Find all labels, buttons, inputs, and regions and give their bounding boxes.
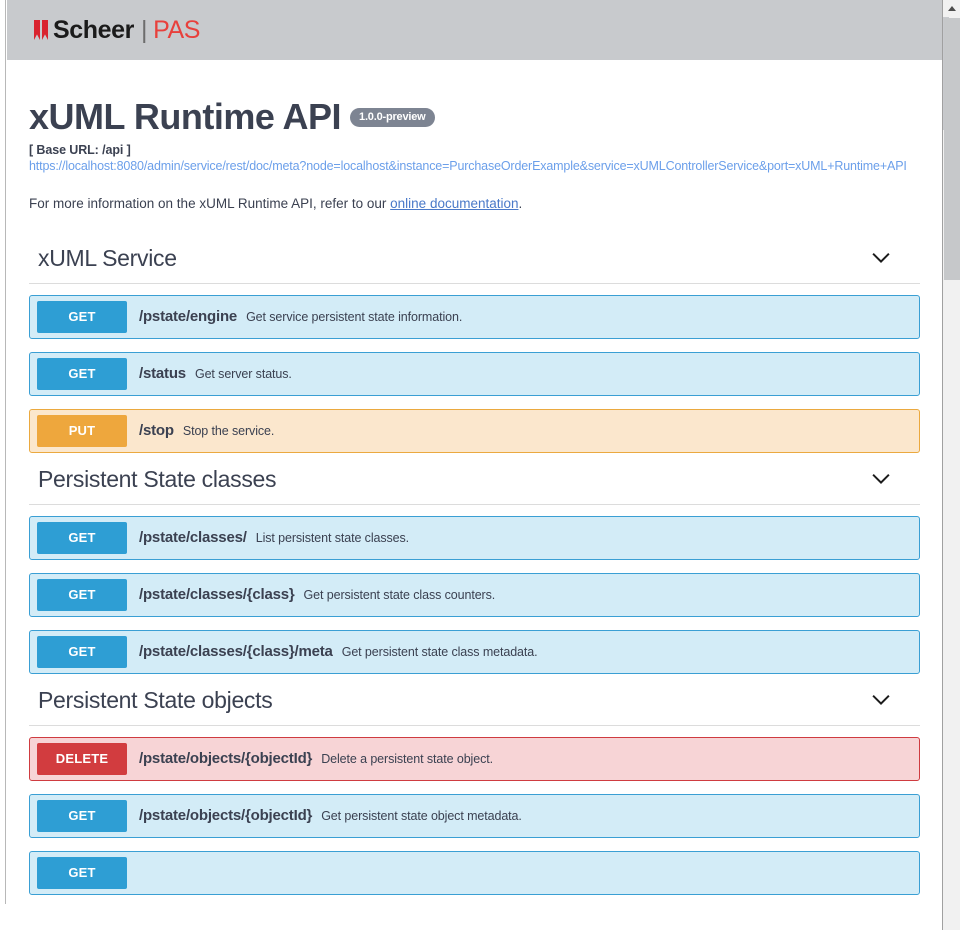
operation-summary: Delete a persistent state object. bbox=[321, 752, 493, 766]
tag-section: Persistent State classesGET/pstate/class… bbox=[29, 466, 920, 674]
description-suffix: . bbox=[519, 196, 523, 211]
tag-header-2[interactable]: Persistent State classes bbox=[29, 466, 920, 505]
operation-path: /pstate/engine bbox=[139, 308, 237, 325]
chevron-down-icon[interactable] bbox=[872, 470, 890, 488]
api-description: For more information on the xUML Runtime… bbox=[29, 196, 920, 211]
operation-row[interactable]: GET/pstate/classes/{class}/metaGet persi… bbox=[29, 630, 920, 674]
brand-name: Scheer bbox=[53, 16, 134, 45]
http-method-badge: GET bbox=[37, 800, 127, 832]
http-method-badge: PUT bbox=[37, 415, 127, 447]
brand-separator: | bbox=[141, 16, 147, 45]
page-content: xUML Runtime API 1.0.0-preview [ Base UR… bbox=[7, 60, 942, 895]
api-info-block: xUML Runtime API 1.0.0-preview [ Base UR… bbox=[7, 60, 942, 211]
operation-summary: Get persistent state class counters. bbox=[304, 588, 496, 602]
http-method-badge: GET bbox=[37, 301, 127, 333]
base-url-label: [ Base URL: /api ] bbox=[29, 143, 920, 157]
http-method-badge: GET bbox=[37, 857, 127, 889]
chevron-down-icon[interactable] bbox=[872, 691, 890, 709]
operation-summary: List persistent state classes. bbox=[256, 531, 409, 545]
spec-url-link[interactable]: https://localhost:8080/admin/service/res… bbox=[29, 159, 920, 173]
operation-row[interactable]: GET/pstate/classes/{class}Get persistent… bbox=[29, 573, 920, 617]
page-title: xUML Runtime API bbox=[29, 98, 341, 136]
scrollbar-thumb[interactable] bbox=[944, 18, 960, 280]
operation-summary: Get persistent state class metadata. bbox=[342, 645, 538, 659]
operation-row[interactable]: GET/pstate/classes/List persistent state… bbox=[29, 516, 920, 560]
operation-path: /stop bbox=[139, 422, 174, 439]
tag-header-1[interactable]: xUML Service bbox=[29, 245, 920, 284]
scheer-logo-mark-icon bbox=[34, 20, 51, 40]
version-badge: 1.0.0-preview bbox=[350, 108, 435, 127]
operation-summary: Get service persistent state information… bbox=[246, 310, 462, 324]
http-method-badge: GET bbox=[37, 636, 127, 668]
http-method-badge: GET bbox=[37, 579, 127, 611]
operation-summary: Stop the service. bbox=[183, 424, 274, 438]
brand-header-bar: Scheer | PAS bbox=[7, 0, 942, 60]
tag-section: xUML ServiceGET/pstate/engineGet service… bbox=[29, 245, 920, 453]
operation-path: /pstate/objects/{objectId} bbox=[139, 750, 312, 767]
vertical-scrollbar[interactable] bbox=[942, 0, 960, 930]
online-documentation-link[interactable]: online documentation bbox=[390, 196, 518, 211]
chevron-down-icon[interactable] bbox=[872, 249, 890, 267]
tag-sections: xUML ServiceGET/pstate/engineGet service… bbox=[7, 245, 942, 895]
window-left-edge bbox=[0, 0, 6, 930]
operation-row[interactable]: DELETE/pstate/objects/{objectId}Delete a… bbox=[29, 737, 920, 781]
operation-row[interactable]: PUT/stopStop the service. bbox=[29, 409, 920, 453]
brand-product: PAS bbox=[153, 16, 200, 45]
tag-header-3[interactable]: Persistent State objects bbox=[29, 687, 920, 726]
operation-row[interactable]: GET/pstate/objects/{objectId}Get persist… bbox=[29, 794, 920, 838]
http-method-badge: DELETE bbox=[37, 743, 127, 775]
operation-row[interactable]: GET/statusGet server status. bbox=[29, 352, 920, 396]
tag-title: Persistent State classes bbox=[29, 466, 276, 493]
operation-path: /pstate/classes/{class} bbox=[139, 586, 295, 603]
operation-row[interactable]: GET/pstate/engineGet service persistent … bbox=[29, 295, 920, 339]
http-method-badge: GET bbox=[37, 358, 127, 390]
swagger-ui-page: Scheer | PAS xUML Runtime API 1.0.0-prev… bbox=[0, 0, 960, 930]
scroll-up-arrow-icon bbox=[948, 6, 956, 11]
operation-summary: Get persistent state object metadata. bbox=[321, 809, 522, 823]
scrollbar-up-button[interactable] bbox=[943, 0, 960, 17]
operation-path: /pstate/classes/ bbox=[139, 529, 247, 546]
tag-title: xUML Service bbox=[29, 245, 177, 272]
operation-path: /pstate/classes/{class}/meta bbox=[139, 643, 333, 660]
http-method-badge: GET bbox=[37, 522, 127, 554]
operation-summary: Get server status. bbox=[195, 367, 292, 381]
tag-title: Persistent State objects bbox=[29, 687, 272, 714]
scheer-pas-logo: Scheer | PAS bbox=[34, 16, 200, 45]
tag-section: Persistent State objectsDELETE/pstate/ob… bbox=[29, 687, 920, 895]
torn-edge-shape bbox=[0, 904, 960, 930]
operation-path: /pstate/objects/{objectId} bbox=[139, 807, 312, 824]
operation-row[interactable]: GET bbox=[29, 851, 920, 895]
operation-path: /status bbox=[139, 365, 186, 382]
description-prefix: For more information on the xUML Runtime… bbox=[29, 196, 390, 211]
api-title-row: xUML Runtime API 1.0.0-preview bbox=[29, 98, 920, 136]
torn-page-edge bbox=[0, 904, 960, 930]
